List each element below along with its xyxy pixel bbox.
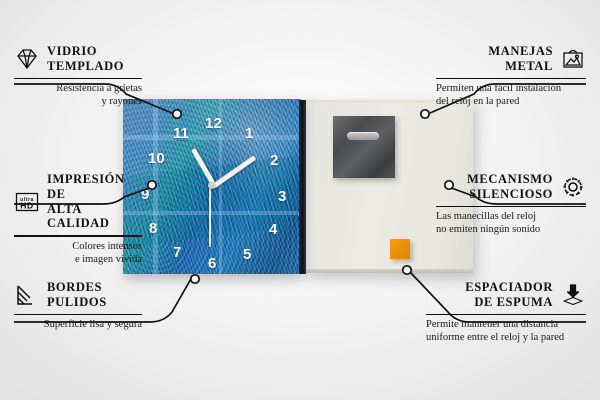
clock-numeral-5: 5 [243, 247, 251, 262]
wall-frame-hanger-icon [560, 47, 586, 71]
clock-numeral-10: 10 [148, 151, 165, 166]
metal-hanger-plate [333, 116, 395, 178]
callout-desc: Superficie lisa y segura [14, 318, 142, 331]
callout-desc: Permite mantener una distancia uniforme … [426, 318, 586, 344]
clock-face: 12 1 2 3 4 5 6 7 8 9 10 11 [123, 99, 301, 274]
product-photo: 12 1 2 3 4 5 6 7 8 9 10 11 [123, 99, 473, 274]
clock-numeral-6: 6 [208, 256, 216, 271]
callout-title-row: BORDES PULIDOS [14, 280, 142, 310]
callout-rule [436, 206, 586, 208]
callout-foam-spacer: ESPACIADOR DE ESPUMA Permite mantener un… [426, 280, 586, 344]
callout-title: MECANISMO SILENCIOSO [467, 172, 553, 202]
callout-title-row: MANEJAS METAL [436, 44, 586, 74]
callout-title: ESPACIADOR DE ESPUMA [465, 280, 553, 310]
clock-numeral-3: 3 [278, 189, 286, 204]
clock-numeral-2: 2 [270, 153, 278, 168]
panel-bottom-edge [305, 269, 473, 273]
svg-text:HD: HD [20, 200, 33, 210]
callout-rule [14, 235, 142, 237]
callout-desc: Permiten una fácil instalación del reloj… [436, 82, 586, 108]
clock-numeral-1: 1 [245, 126, 253, 141]
callout-metal-handles: MANEJAS METAL Permiten una fácil instala… [436, 44, 586, 108]
callout-title: VIDRIO TEMPLADO [47, 44, 124, 74]
callout-title-row: MECANISMO SILENCIOSO [436, 172, 586, 202]
callout-title-row: ESPACIADOR DE ESPUMA [426, 280, 586, 310]
callout-hd-print: ultra HD IMPRESIÓN DE ALTA CALIDAD Color… [14, 172, 142, 266]
arrow-down-layers-icon [560, 283, 586, 307]
callout-title: MANEJAS METAL [488, 44, 553, 74]
product-infographic: 12 1 2 3 4 5 6 7 8 9 10 11 [0, 0, 600, 400]
callout-polished-edges: BORDES PULIDOS Superficie lisa y segura [14, 280, 142, 331]
callout-desc: Resistencia a grietas y rayones [14, 82, 142, 108]
clock-center-pin [208, 182, 215, 189]
clock-numeral-9: 9 [141, 187, 149, 202]
callout-title: BORDES PULIDOS [47, 280, 107, 310]
polished-edges-icon [14, 283, 40, 307]
clock-numeral-8: 8 [149, 221, 157, 236]
callout-title-row: ultra HD IMPRESIÓN DE ALTA CALIDAD [14, 172, 142, 231]
callout-silent-mechanism: MECANISMO SILENCIOSO Las manecillas del … [436, 172, 586, 236]
callout-title: IMPRESIÓN DE ALTA CALIDAD [47, 172, 142, 231]
clock-numeral-12: 12 [205, 116, 222, 131]
callout-rule [436, 78, 586, 80]
clock-numeral-11: 11 [173, 126, 189, 141]
hanger-slot [347, 132, 379, 140]
callout-desc: Colores intensos e imagen vívida [14, 240, 142, 266]
gear-icon [560, 175, 586, 199]
callout-desc: Las manecillas del reloj no emiten ningú… [436, 210, 586, 236]
foam-spacer [390, 239, 410, 259]
callout-rule [14, 78, 142, 80]
connector-dot-polished-edges [191, 275, 199, 283]
callout-tempered-glass: VIDRIO TEMPLADO Resistencia a grietas y … [14, 44, 142, 108]
clock-numeral-4: 4 [269, 222, 277, 237]
clock-second-hand [209, 185, 211, 247]
ultra-hd-badge-icon: ultra HD [14, 190, 40, 214]
callout-rule [14, 314, 142, 316]
glass-panel-edge [299, 100, 306, 274]
clock-numeral-7: 7 [173, 245, 181, 260]
callout-title-row: VIDRIO TEMPLADO [14, 44, 142, 74]
diamond-icon [14, 47, 40, 71]
callout-rule [426, 314, 586, 316]
